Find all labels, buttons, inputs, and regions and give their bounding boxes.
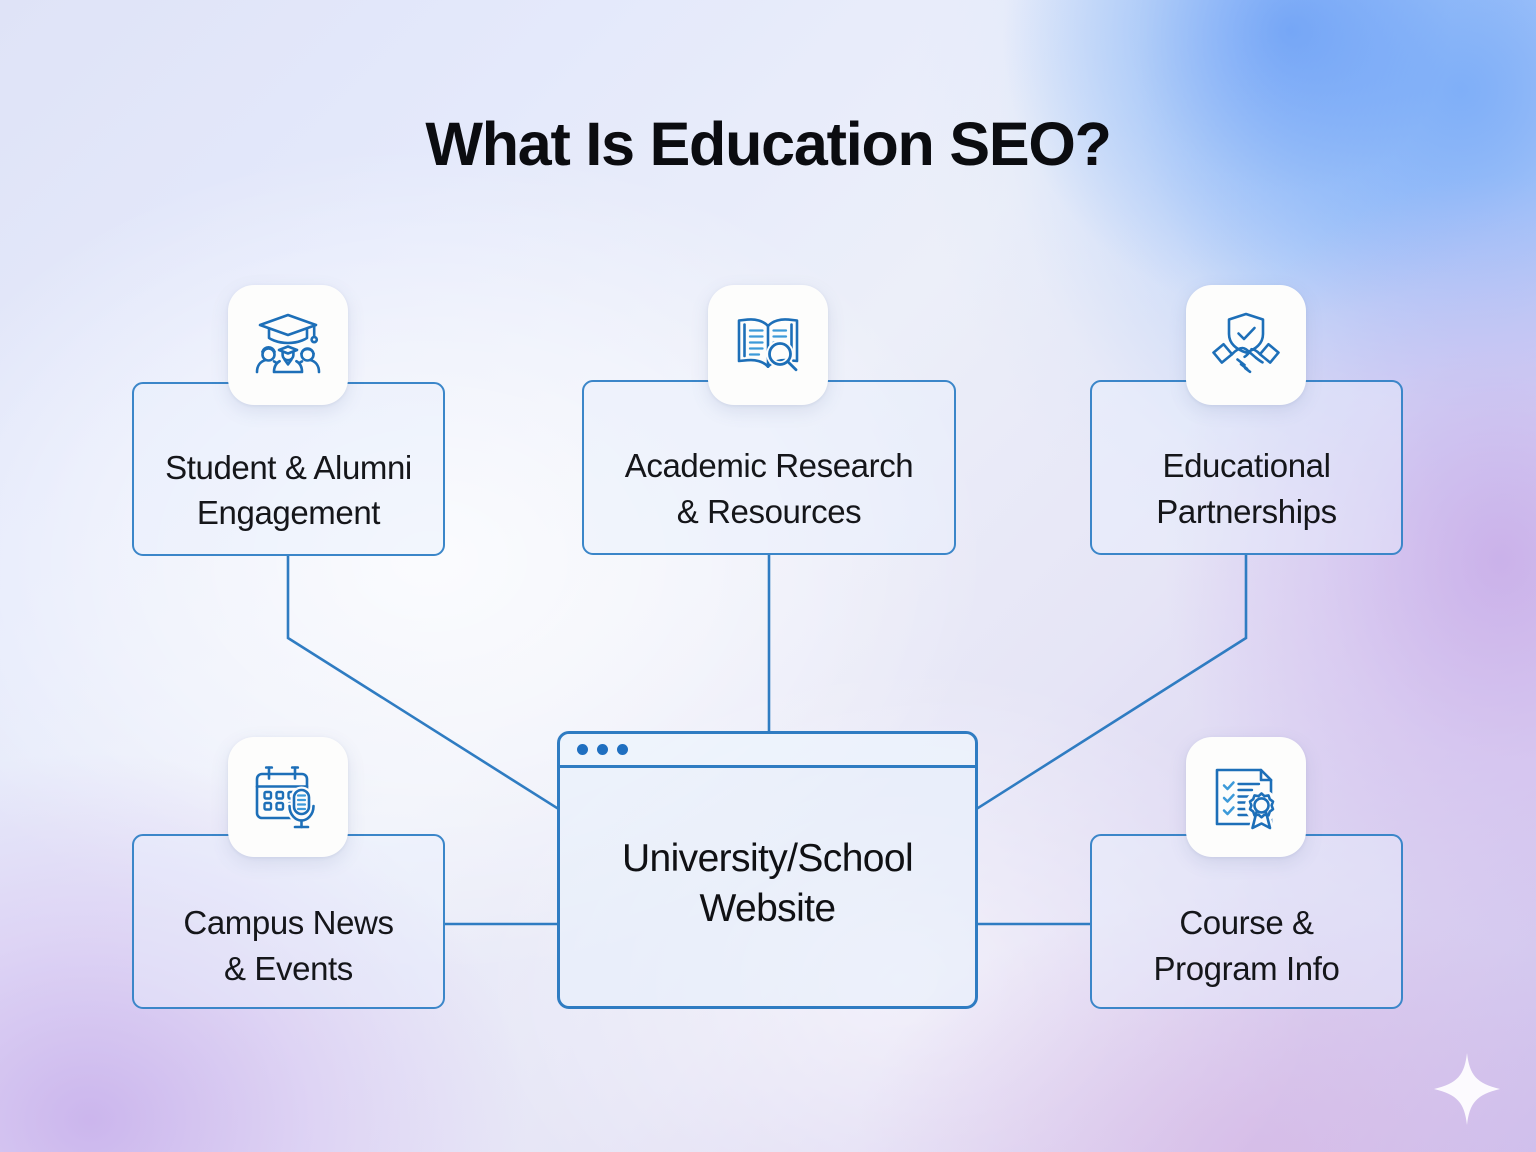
book-magnifier-icon-badge bbox=[708, 285, 828, 405]
node-label: Campus News & Events bbox=[175, 852, 401, 990]
node-label: Academic Research & Resources bbox=[617, 401, 922, 533]
node-label: Student & Alumni Engagement bbox=[157, 403, 420, 535]
node-card-educational-partnerships[interactable]: Educational Partnerships bbox=[1090, 380, 1403, 555]
browser-dot-green bbox=[617, 744, 628, 755]
browser-body: University/School Website bbox=[560, 768, 975, 1006]
node-card-student-alumni-engagement[interactable]: Student & Alumni Engagement bbox=[132, 382, 445, 556]
node-card-campus-news-events[interactable]: Campus News & Events bbox=[132, 834, 445, 1009]
browser-window-icon[interactable]: University/School Website bbox=[557, 731, 978, 1009]
page-title: What Is Education SEO? bbox=[0, 112, 1536, 176]
calendar-microphone-icon bbox=[249, 758, 327, 836]
node-label: Educational Partnerships bbox=[1148, 401, 1344, 533]
website-label: University/School Website bbox=[622, 834, 913, 940]
book-magnifier-icon bbox=[729, 306, 807, 384]
node-label: Course & Program Info bbox=[1146, 852, 1348, 990]
browser-titlebar bbox=[560, 734, 975, 768]
node-card-course-program-info[interactable]: Course & Program Info bbox=[1090, 834, 1403, 1009]
browser-dot-red bbox=[577, 744, 588, 755]
graduation-students-icon bbox=[249, 306, 327, 384]
calendar-microphone-icon-badge bbox=[228, 737, 348, 857]
checklist-award-icon-badge bbox=[1186, 737, 1306, 857]
graduation-students-icon-badge bbox=[228, 285, 348, 405]
handshake-shield-icon bbox=[1207, 306, 1285, 384]
checklist-award-icon bbox=[1207, 758, 1285, 836]
node-card-academic-research-resources[interactable]: Academic Research & Resources bbox=[582, 380, 956, 555]
browser-dot-yellow bbox=[597, 744, 608, 755]
four-point-star-icon bbox=[1434, 1053, 1500, 1125]
handshake-shield-icon-badge bbox=[1186, 285, 1306, 405]
